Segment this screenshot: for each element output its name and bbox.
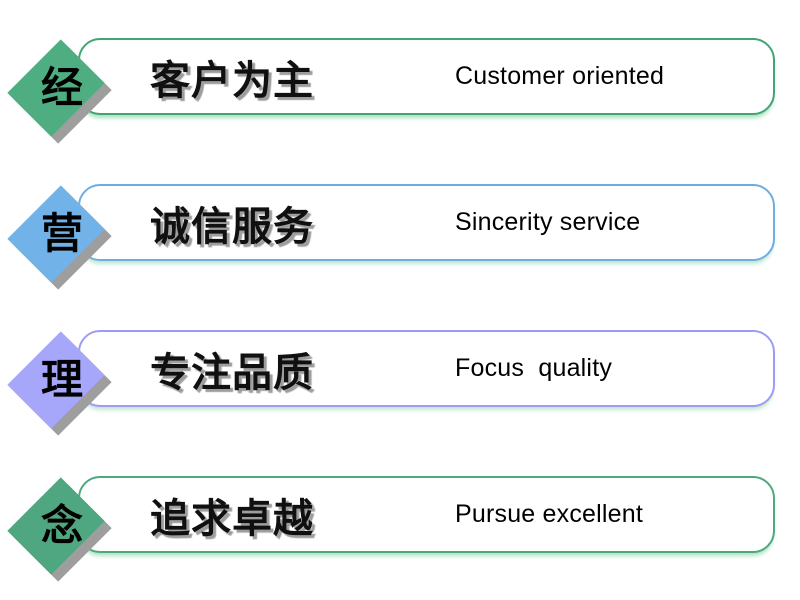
value-row: 专注品质Focus quality理 xyxy=(0,320,800,450)
diamond-character: 经 xyxy=(12,28,112,148)
value-chinese-label: 追求卓越 xyxy=(150,476,440,553)
value-english-label: Customer oriented xyxy=(455,38,765,115)
value-row: 诚信服务Sincerity service营 xyxy=(0,174,800,304)
diamond-character: 理 xyxy=(12,320,112,440)
value-diamond-badge: 念 xyxy=(12,466,112,586)
value-english-label: Sincerity service xyxy=(455,184,765,261)
value-diamond-badge: 经 xyxy=(12,28,112,148)
value-chinese-label: 诚信服务 xyxy=(150,184,440,261)
value-diamond-badge: 理 xyxy=(12,320,112,440)
diamond-character: 营 xyxy=(12,174,112,294)
value-english-label: Pursue excellent xyxy=(455,476,765,553)
value-row: 追求卓越Pursue excellent念 xyxy=(0,466,800,596)
values-slide: 客户为主Customer oriented经诚信服务Sincerity serv… xyxy=(0,0,800,600)
value-diamond-badge: 营 xyxy=(12,174,112,294)
value-row: 客户为主Customer oriented经 xyxy=(0,28,800,158)
value-chinese-label: 客户为主 xyxy=(150,38,440,115)
value-english-label: Focus quality xyxy=(455,330,765,407)
diamond-character: 念 xyxy=(12,466,112,586)
value-chinese-label: 专注品质 xyxy=(150,330,440,407)
